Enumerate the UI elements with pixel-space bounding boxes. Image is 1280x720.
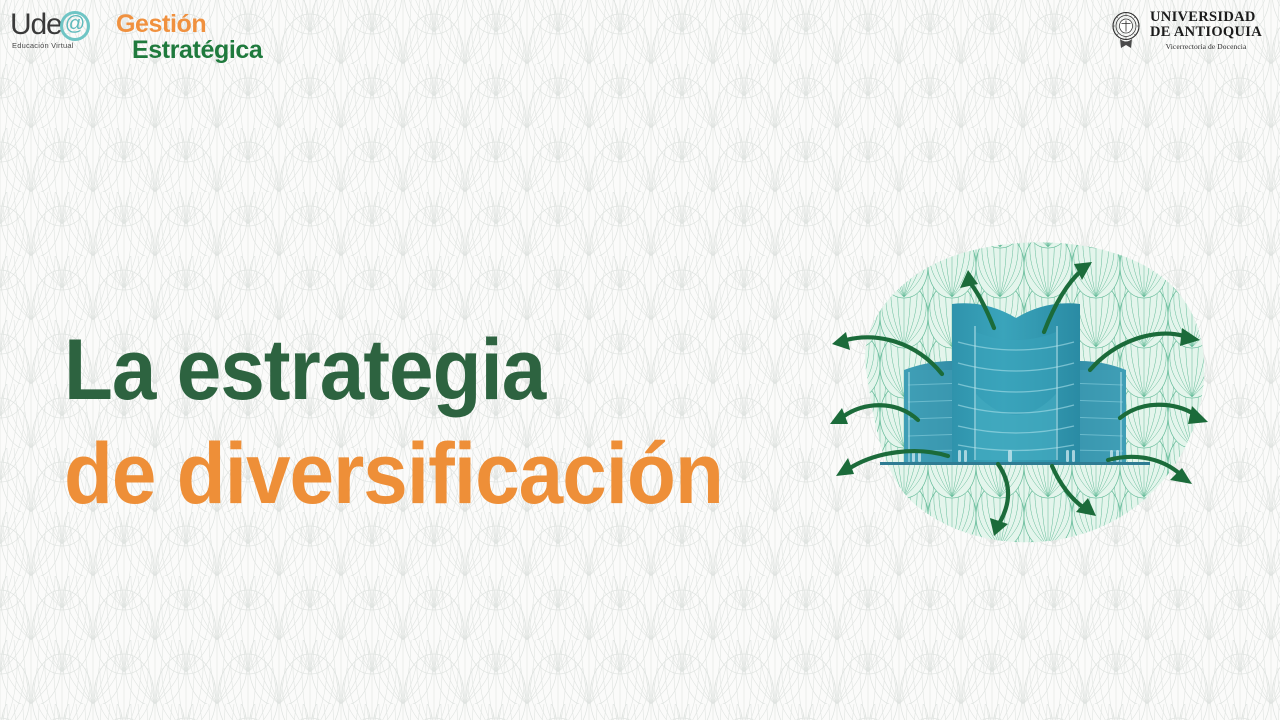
title-line-2: de diversificación [64,422,723,526]
brand-right-group: UNIVERSIDAD DE ANTIOQUIA Vicerrectoría d… [1109,10,1262,51]
university-name-line2: DE ANTIOQUIA [1150,25,1262,40]
center-tower [952,303,1080,462]
udea-logo: Ude @ Educación Virtual [10,8,98,54]
universidad-de-antioquia-seal-icon [1109,11,1143,49]
at-symbol-icon: @ [60,11,90,41]
slide-header: Ude @ Educación Virtual Gestión Estratég… [0,0,1280,78]
university-name-line1: UNIVERSIDAD [1150,10,1262,25]
udea-wordmark: Ude [10,10,61,40]
universidad-de-antioquia-text: UNIVERSIDAD DE ANTIOQUIA Vicerrectoría d… [1150,10,1262,51]
brand-left-group: Ude @ Educación Virtual Gestión Estratég… [10,8,262,63]
ground-line [880,462,1150,465]
university-subtitle: Vicerrectoría de Docencia [1150,43,1262,51]
program-line-2: Estratégica [132,38,262,63]
program-name: Gestión Estratégica [116,8,262,63]
diversification-buildings-illustration [808,222,1228,567]
slide-title-block: La estrategia de diversificación [64,318,773,526]
at-glyph: @ [65,13,85,36]
title-line-1: La estrategia [64,318,723,422]
program-line-1: Gestión [116,12,262,37]
udea-tagline: Educación Virtual [12,41,74,50]
